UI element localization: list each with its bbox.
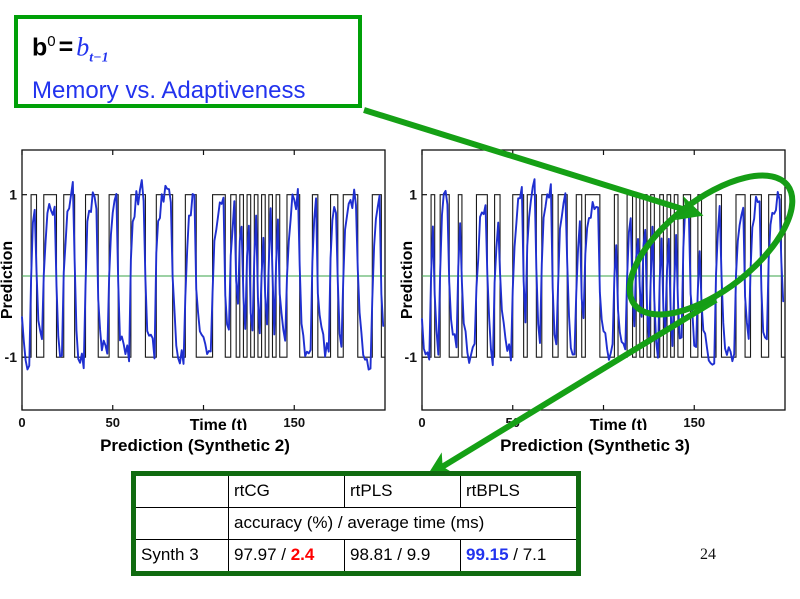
x-tick-label: 150 (283, 415, 305, 430)
x-axis-label: Time (t) (590, 417, 647, 430)
table-header-corner (134, 474, 229, 508)
table-cell-rtcg: 97.97 / 2.4 (229, 540, 345, 574)
table-cell-rtbpls: 99.15 / 7.1 (461, 540, 579, 574)
title-callout-box: b0=bt−1 Memory vs. Adaptiveness (14, 15, 362, 108)
cell-time-value: 9.9 (407, 545, 431, 564)
x-tick-label: 150 (683, 415, 705, 430)
chart-synthetic-3: 0501501-1Time (t)Prediction Prediction (… (400, 140, 790, 460)
x-tick-label: 50 (506, 415, 520, 430)
y-tick-label: -1 (405, 349, 418, 365)
table-cell-rtpls: 98.81 / 9.9 (345, 540, 461, 574)
table-row-label-synth3: Synth 3 (134, 540, 229, 574)
table-header-rtbpls: rtBPLS (461, 474, 579, 508)
cell-accuracy-value: 98.81 (350, 545, 393, 564)
cell-separator: / (277, 545, 291, 564)
results-table: rtCG rtPLS rtBPLS accuracy (%) / average… (131, 471, 581, 576)
formula-base: b (32, 33, 47, 61)
cell-accuracy-value: 97.97 (234, 545, 277, 564)
x-tick-label: 0 (18, 415, 25, 430)
formula-rhs-variable: b (76, 32, 89, 61)
chart-synthetic-2-caption: Prediction (Synthetic 2) (0, 436, 390, 456)
y-axis-label: Prediction (0, 241, 16, 319)
cell-accuracy-value: 99.15 (466, 545, 509, 564)
results-table-wrap: rtCG rtPLS rtBPLS accuracy (%) / average… (131, 471, 530, 576)
title-subtitle: Memory vs. Adaptiveness (32, 76, 348, 106)
x-tick-label: 50 (106, 415, 120, 430)
y-tick-label: 1 (9, 187, 17, 203)
chart-synthetic-2: 0501501-1Time (t)Prediction Prediction (… (0, 140, 390, 460)
table-metric-label: accuracy (%) / average time (ms) (229, 508, 579, 540)
chart-synthetic-2-svg: 0501501-1Time (t)Prediction (0, 140, 390, 430)
cell-separator: / (509, 545, 523, 564)
slide-canvas: b0=bt−1 Memory vs. Adaptiveness 0501501-… (0, 0, 800, 599)
table-header-row: rtCG rtPLS rtBPLS (134, 474, 579, 508)
x-axis-label: Time (t) (190, 417, 247, 430)
x-tick-label: 0 (418, 415, 425, 430)
cell-time-value: 2.4 (291, 545, 315, 564)
y-axis-label: Prediction (400, 241, 416, 319)
cell-separator: / (393, 545, 407, 564)
y-tick-label: -1 (5, 349, 18, 365)
formula-superscript: 0 (47, 33, 55, 50)
table-header-rtcg: rtCG (229, 474, 345, 508)
table-header-rtpls: rtPLS (345, 474, 461, 508)
page-number: 24 (700, 546, 716, 564)
table-row: Synth 3 97.97 / 2.4 98.81 / 9.9 99.15 / … (134, 540, 579, 574)
formula-line: b0=bt−1 (32, 27, 348, 73)
table-metric-row: accuracy (%) / average time (ms) (134, 508, 579, 540)
chart-synthetic-3-svg: 0501501-1Time (t)Prediction (400, 140, 790, 430)
formula-equals: = (56, 33, 77, 61)
table-metric-corner (134, 508, 229, 540)
formula-rhs-subscript: t−1 (89, 50, 108, 65)
y-tick-label: 1 (409, 187, 417, 203)
cell-time-value: 7.1 (523, 545, 547, 564)
chart-synthetic-3-caption: Prediction (Synthetic 3) (400, 436, 790, 456)
